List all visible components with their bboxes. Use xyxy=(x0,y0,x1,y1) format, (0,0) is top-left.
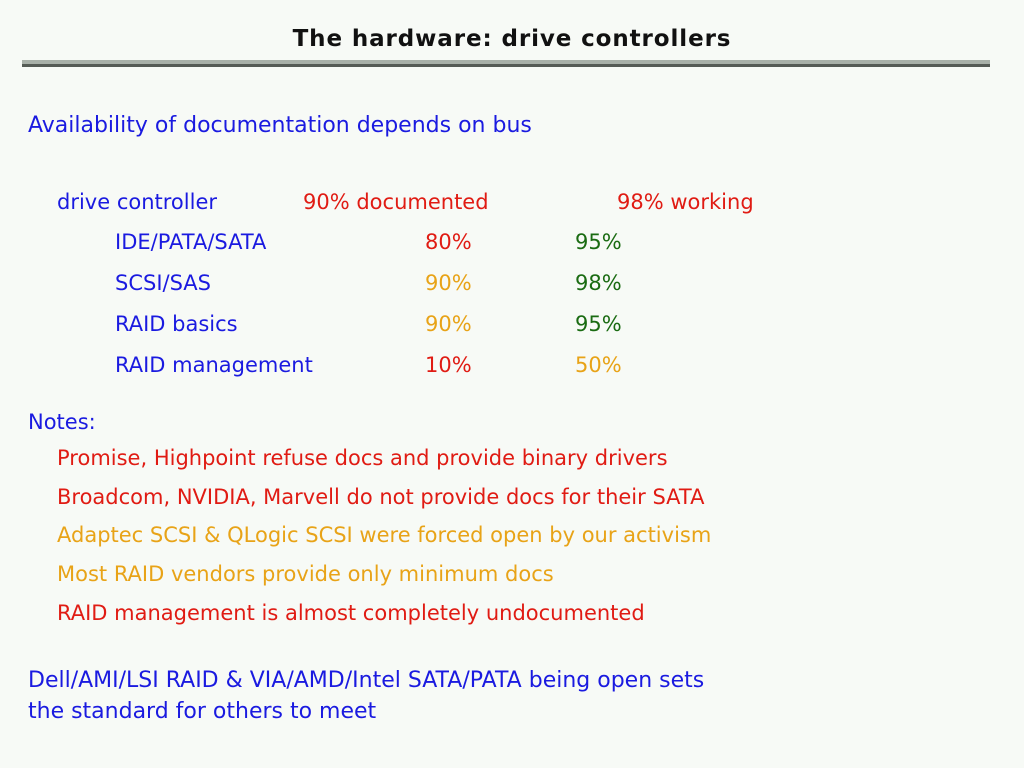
notes-heading: Notes: xyxy=(28,410,96,434)
row-working-value: 95% xyxy=(575,232,622,253)
title-divider xyxy=(22,60,990,67)
row-label: IDE/PATA/SATA xyxy=(115,232,266,253)
note-line: RAID management is almost completely und… xyxy=(57,603,645,624)
closing-line-1: Dell/AMI/LSI RAID & VIA/AMD/Intel SATA/P… xyxy=(28,665,988,696)
row-label: RAID management xyxy=(115,355,313,376)
table-row: IDE/PATA/SATA80%95% xyxy=(0,232,1024,272)
note-line: Broadcom, NVIDIA, Marvell do not provide… xyxy=(57,487,704,508)
row-documented-value: 90% xyxy=(425,314,472,335)
note-line: Most RAID vendors provide only minimum d… xyxy=(57,564,554,585)
row-working-value: 95% xyxy=(575,314,622,335)
row-working-value: 50% xyxy=(575,355,622,376)
row-documented-value: 80% xyxy=(425,232,472,253)
table-row: RAID management10%50% xyxy=(0,355,1024,395)
row-label: SCSI/SAS xyxy=(115,273,211,294)
intro-statement: Availability of documentation depends on… xyxy=(28,115,532,137)
row-documented-value: 10% xyxy=(425,355,472,376)
closing-line-2: the standard for others to meet xyxy=(28,696,988,727)
table-header-label: drive controller xyxy=(57,192,217,213)
table-row: SCSI/SAS90%98% xyxy=(0,273,1024,313)
note-line: Promise, Highpoint refuse docs and provi… xyxy=(57,448,668,469)
closing-statement: Dell/AMI/LSI RAID & VIA/AMD/Intel SATA/P… xyxy=(28,665,988,727)
note-line: Adaptec SCSI & QLogic SCSI were forced o… xyxy=(57,525,711,546)
support-matrix-table: drive controller90% documented98% workin… xyxy=(0,192,1024,387)
table-row: RAID basics90%95% xyxy=(0,314,1024,354)
row-label: RAID basics xyxy=(115,314,238,335)
page-title: The hardware: drive controllers xyxy=(0,26,1024,52)
table-header-documented: 90% documented xyxy=(303,192,489,213)
row-working-value: 98% xyxy=(575,273,622,294)
table-header-working: 98% working xyxy=(617,192,754,213)
divider-dark-bar xyxy=(22,64,990,67)
table-header-row: drive controller90% documented98% workin… xyxy=(0,192,1024,232)
row-documented-value: 90% xyxy=(425,273,472,294)
